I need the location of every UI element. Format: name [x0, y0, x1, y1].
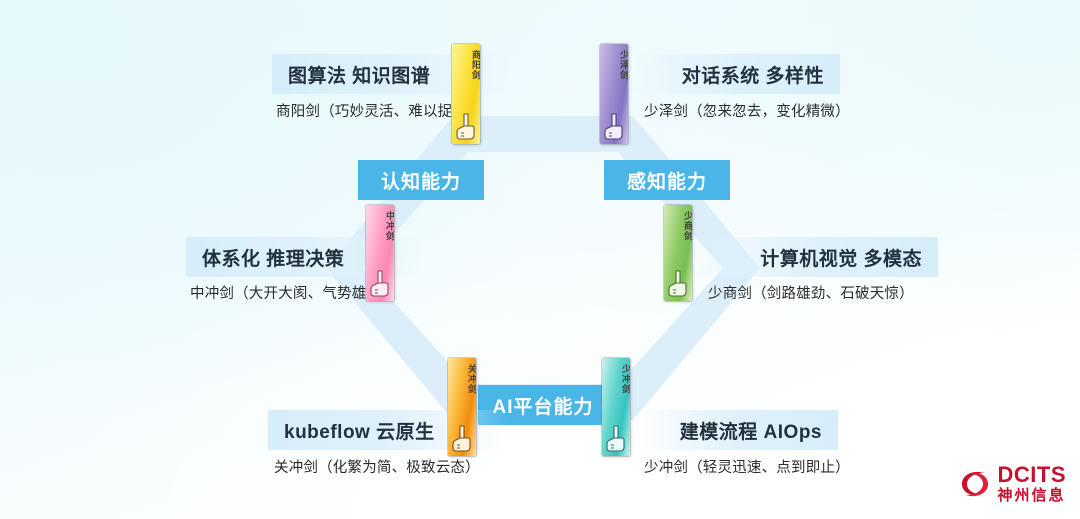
- logo-wordmark-cn: 神州信息: [998, 488, 1067, 503]
- pointing-hand-icon: [367, 268, 393, 298]
- sword-label-shangyangjian: 商阳剑: [452, 50, 480, 80]
- sword-label-zhongchongjian: 中冲剑: [366, 211, 394, 241]
- node-caption-systematic-reasoning: 中冲剑（大开大阂、气势雄迈）: [190, 282, 396, 303]
- node-caption-dialogue-system: 少泽剑（忽来忽去，变化精微）: [644, 100, 850, 121]
- dcits-logo: DCITS 神州信息: [958, 464, 1067, 503]
- sword-label-shaozejian: 少泽剑: [600, 50, 628, 80]
- capability-chip-perceptive[interactable]: 感知能力: [604, 160, 730, 200]
- node-caption-computer-vision: 少商剑（剑路雄劲、石破天惊）: [708, 282, 914, 303]
- sword-label-shaochongjian: 少冲剑: [602, 364, 630, 394]
- sword-guanchongjian: 关冲剑: [448, 358, 476, 456]
- node-caption-modeling-aiops: 少冲剑（轻灵迅速、点到即止）: [644, 456, 850, 477]
- sword-label-shaoshangjian: 少商剑: [664, 211, 692, 241]
- dcits-swoosh-icon: [958, 467, 992, 501]
- pointing-hand-icon: [449, 423, 475, 453]
- sword-shaoshangjian: 少商剑: [664, 205, 692, 301]
- pointing-hand-icon: [601, 111, 627, 141]
- diagram-canvas: 图算法 知识图谱 商阳剑（巧妙灵活、难以捉摸） 商阳剑 对话系统 多样性 少泽剑…: [0, 0, 1080, 519]
- pointing-hand-icon: [603, 423, 629, 453]
- node-title-computer-vision: 计算机视觉 多模态: [690, 237, 938, 277]
- sword-shangyangjian: 商阳剑: [452, 44, 480, 144]
- node-title-modeling-aiops: 建模流程 AIOps: [636, 410, 838, 450]
- sword-label-guanchongjian: 关冲剑: [448, 364, 476, 394]
- logo-wordmark-en: DCITS: [998, 464, 1067, 486]
- sword-shaozejian: 少泽剑: [600, 44, 628, 144]
- node-title-dialogue-system: 对话系统 多样性: [624, 54, 840, 94]
- pointing-hand-icon: [665, 268, 691, 298]
- sword-zhongchongjian: 中冲剑: [366, 205, 394, 301]
- capability-chip-cognitive[interactable]: 认知能力: [358, 160, 484, 200]
- pointing-hand-icon: [453, 111, 479, 141]
- node-caption-graph-algorithm: 商阳剑（巧妙灵活、难以捉摸）: [276, 100, 482, 121]
- sword-shaochongjian: 少冲剑: [602, 358, 630, 456]
- node-caption-kubeflow-cloudnative: 关冲剑（化繁为简、极致云态）: [274, 456, 480, 477]
